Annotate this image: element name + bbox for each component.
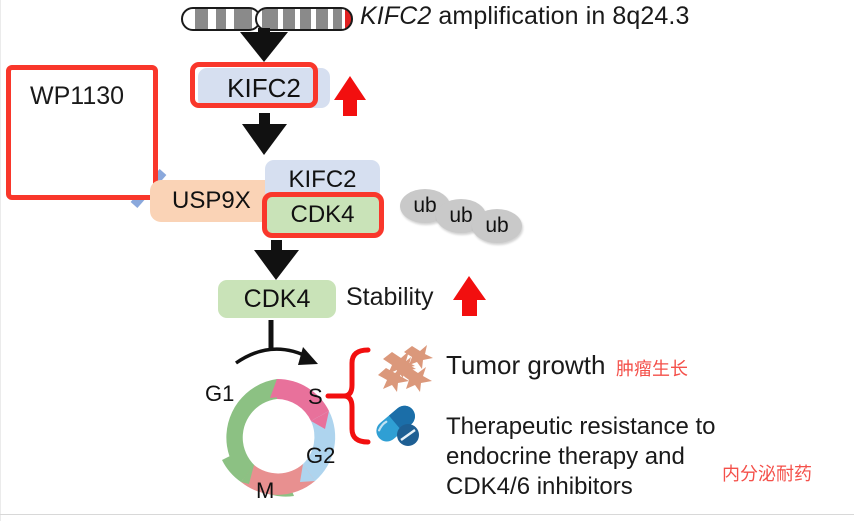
- page-title: KIFC2 amplification in 8q24.3: [360, 2, 689, 31]
- pathway-diagram-canvas: KIFC2 amplification in 8q24.3 WP1130 KIF…: [0, 0, 854, 521]
- curved-cell-cycle-entry-arrow: [236, 320, 318, 365]
- blue-pill-icon: [372, 401, 419, 446]
- arrow-complex-to-cdk4: [254, 240, 299, 280]
- stability-label: Stability: [346, 283, 434, 312]
- cell-cycle-label-s: S: [308, 384, 323, 410]
- ubiquitin-blob: ub: [472, 209, 522, 243]
- wp1130-label: WP1130: [30, 82, 124, 111]
- cell-cycle-label-g1: G1: [205, 381, 234, 407]
- cell-cycle-label-m: M: [256, 478, 274, 504]
- arrow-ideogram-to-kifc2: [240, 28, 288, 62]
- tumor-cells-icon: [378, 345, 433, 392]
- outcome-tumor-growth-annotation-cn: 肿瘤生长: [616, 355, 688, 381]
- node-cdk4-stability[interactable]: CDK4: [218, 280, 336, 318]
- arrow-kifc2-to-complex: [242, 113, 287, 155]
- cell-cycle-label-g2: G2: [306, 443, 335, 469]
- bottom-edge-rule: [0, 514, 854, 515]
- outcome-resistance-label: Therapeutic resistance to endocrine ther…: [446, 412, 715, 502]
- title-gene-name: KIFC2: [360, 2, 431, 30]
- left-edge-rule: [0, 0, 1, 521]
- red-curly-brace: [328, 350, 368, 442]
- kifc2-top-highlight-ring: [190, 62, 318, 108]
- red-up-arrow-icon-kifc2: [334, 76, 366, 116]
- red-up-arrow-icon-stability: [453, 276, 486, 316]
- chromosome-8-ideogram: [182, 8, 352, 30]
- title-rest: amplification in 8q24.3: [431, 2, 689, 30]
- cdk4-mid-highlight-ring: [262, 192, 384, 238]
- outcome-resistance-annotation-cn: 内分泌耐药: [722, 460, 812, 486]
- outcome-tumor-growth-label: Tumor growth: [446, 350, 605, 381]
